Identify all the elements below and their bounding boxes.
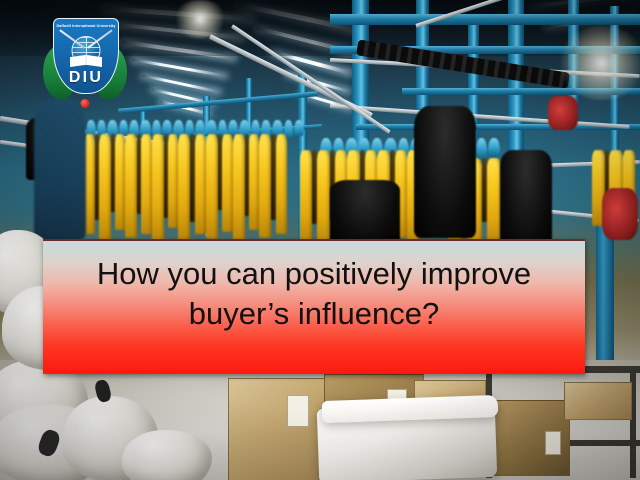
logo-acronym: DIU — [54, 69, 118, 87]
red-dot-icon — [81, 99, 90, 108]
slide-title-line-1: How you can positively improve — [97, 256, 531, 291]
presentation-slide: Daffodil International University DIU Ho… — [0, 0, 640, 480]
title-banner: How you can positively improve buyer’s i… — [43, 239, 585, 374]
slide-title: How you can positively improve buyer’s i… — [43, 241, 585, 335]
slide-title-line-2: buyer’s influence? — [189, 296, 439, 331]
open-book-icon — [70, 55, 102, 67]
daffodil-international-university-logo: Daffodil International University DIU — [42, 14, 128, 110]
shield-icon: Daffodil International University DIU — [53, 18, 119, 94]
logo-university-name: Daffodil International University — [54, 24, 118, 28]
